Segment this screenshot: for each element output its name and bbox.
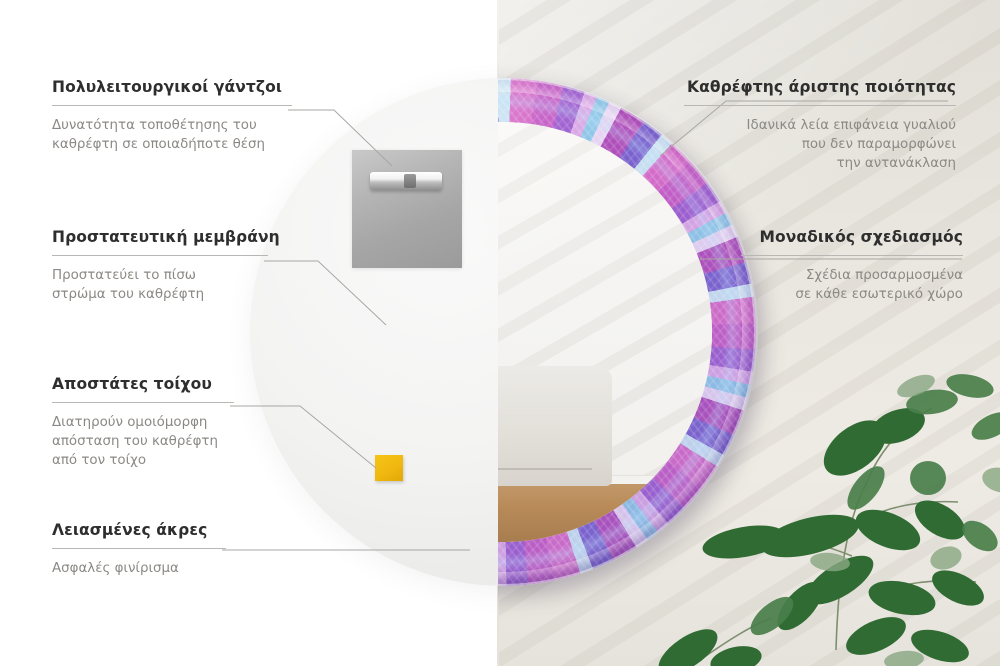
callout-membrane-title: Προστατευτική μεμβράνη	[52, 228, 268, 246]
callout-unique-design-desc: Σχέδια προσαρμοσμένα σε κάθε εσωτερικό χ…	[741, 266, 963, 304]
callout-edges-rule	[52, 548, 226, 549]
callout-hooks-title: Πολυλειτουργικοί γάντζοι	[52, 78, 292, 96]
callout-edges-title: Λειασμένες άκρες	[52, 521, 226, 539]
callout-spacers-desc: Διατηρούν ομοιόμορφη απόσταση του καθρέφ…	[52, 413, 234, 470]
hook-bracket-icon	[370, 172, 442, 190]
callout-membrane-desc: Προστατεύει το πίσω στρώμα του καθρέφτη	[52, 266, 268, 304]
callout-unique-design-rule	[741, 255, 963, 256]
callout-quality-mirror-title: Καθρέφτης άριστης ποιότητας	[684, 78, 956, 96]
callout-unique-design-title: Μοναδικός σχεδιασμός	[741, 228, 963, 246]
callout-quality-mirror-rule	[684, 105, 956, 106]
callout-spacers-title: Αποστάτες τοίχου	[52, 375, 234, 393]
callout-membrane: Προστατευτική μεμβράνη Προστατεύει το πί…	[52, 228, 268, 304]
mirror-hook-part	[352, 150, 462, 268]
callout-spacers-rule	[52, 402, 234, 403]
callout-hooks-rule	[52, 105, 292, 106]
callout-hooks: Πολυλειτουργικοί γάντζοι Δυνατότητα τοπο…	[52, 78, 292, 154]
callout-edges-desc: Ασφαλές φινίρισμα	[52, 559, 226, 578]
callout-unique-design: Μοναδικός σχεδιασμός Σχέδια προσαρμοσμέν…	[741, 228, 963, 304]
callout-quality-mirror-desc: Ιδανικά λεία επιφάνεια γυαλιού που δεν π…	[684, 116, 956, 173]
callout-membrane-rule	[52, 255, 268, 256]
callout-edges: Λειασμένες άκρες Ασφαλές φινίρισμα	[52, 521, 226, 578]
callout-hooks-desc: Δυνατότητα τοποθέτησης του καθρέφτη σε ο…	[52, 116, 292, 154]
decorative-plant-leaves	[640, 330, 1000, 666]
reflected-sofa-cushion-seam	[498, 468, 592, 470]
callout-quality-mirror: Καθρέφτης άριστης ποιότητας Ιδανικά λεία…	[684, 78, 956, 173]
callout-spacers: Αποστάτες τοίχου Διατηρούν ομοιόμορφη απ…	[52, 375, 234, 470]
wall-spacer-part	[375, 455, 403, 481]
product-feature-infographic: Πολυλειτουργικοί γάντζοι Δυνατότητα τοπο…	[0, 0, 1000, 666]
